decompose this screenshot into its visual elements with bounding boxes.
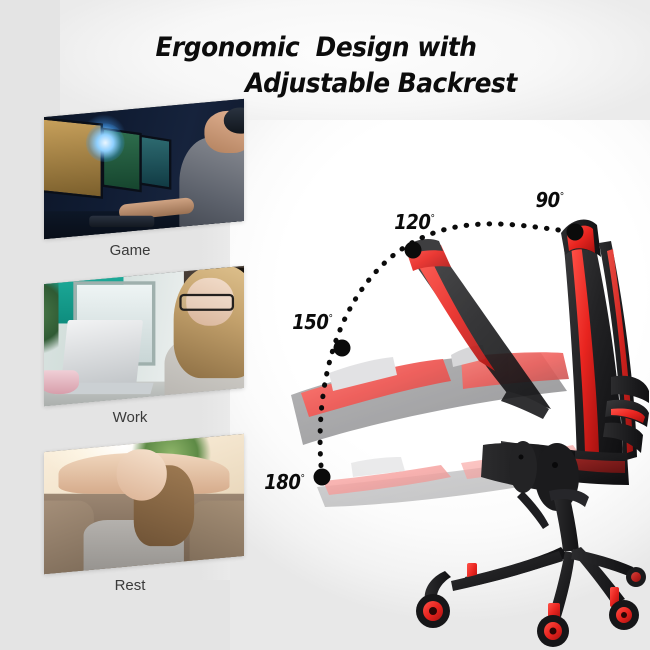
degree-symbol-180: °: [300, 473, 304, 484]
degree-symbol-90: °: [560, 191, 564, 202]
degree-symbol-120: °: [430, 213, 434, 224]
angle-label-120: 120°: [394, 210, 434, 234]
angle-value-90: 90: [536, 188, 560, 212]
angle-label-90: 90°: [536, 188, 564, 212]
infographic-canvas: Ergonomic Design with Adjustable Backres…: [0, 0, 650, 650]
angle-dot-180: [314, 469, 331, 486]
angle-value-120: 120: [394, 210, 430, 234]
angle-dot-90: [567, 224, 584, 241]
angle-label-180: 180°: [264, 470, 304, 494]
degree-symbol-150: °: [328, 313, 332, 324]
angle-label-150: 150°: [292, 310, 332, 334]
arc-dotted-path: [320, 224, 575, 477]
angle-value-180: 180: [264, 470, 300, 494]
angle-dot-150: [334, 340, 351, 357]
angle-value-150: 150: [292, 310, 328, 334]
angle-dot-120: [405, 242, 422, 259]
